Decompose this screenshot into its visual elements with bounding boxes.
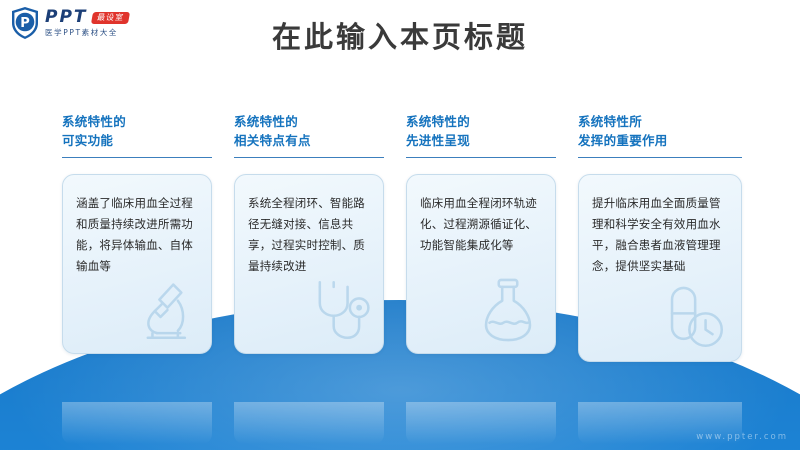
stethoscope-icon: [299, 273, 373, 347]
card-body-text: 提升临床用血全面质量管理和科学安全有效用血水平，融合患者血液管理理念，提供坚实基…: [592, 193, 728, 277]
info-card-2[interactable]: 系统全程闭环、智能路径无缝对接、信息共享，过程实时控制、质量持续改进: [234, 174, 384, 354]
flask-icon: [471, 273, 545, 347]
heading-underline: [62, 157, 212, 158]
card-reflection: [234, 402, 384, 444]
pill-clock-icon: [657, 281, 731, 355]
heading-underline: [406, 157, 556, 158]
card-reflections: [62, 402, 752, 444]
info-card-4[interactable]: 提升临床用血全面质量管理和科学安全有效用血水平，融合患者血液管理理念，提供坚实基…: [578, 174, 742, 362]
column-heading: 系统特性的 先进性呈现: [406, 112, 556, 150]
heading-underline: [234, 157, 384, 158]
card-body-text: 涵盖了临床用血全过程和质量持续改进所需功能，将异体输血、自体输血等: [76, 193, 198, 277]
info-card-1[interactable]: 涵盖了临床用血全过程和质量持续改进所需功能，将异体输血、自体输血等: [62, 174, 212, 354]
info-card-3[interactable]: 临床用血全程闭环轨迹化、过程溯源循证化、功能智能集成化等: [406, 174, 556, 354]
slide-canvas: P PPT 最设室 医学PPT素材大全 在此输入本页标题 系统特性的 可实功能 …: [0, 0, 800, 450]
column-heading: 系统特性的 相关特点有点: [234, 112, 384, 150]
column-heading: 系统特性的 可实功能: [62, 112, 212, 150]
column-3: 系统特性的 先进性呈现 临床用血全程闭环轨迹化、过程溯源循证化、功能智能集成化等: [406, 112, 556, 402]
column-1: 系统特性的 可实功能 涵盖了临床用血全过程和质量持续改进所需功能，将异体输血、自…: [62, 112, 212, 402]
card-reflection: [62, 402, 212, 444]
content-columns: 系统特性的 可实功能 涵盖了临床用血全过程和质量持续改进所需功能，将异体输血、自…: [62, 112, 752, 402]
column-4: 系统特性所 发挥的重要作用 提升临床用血全面质量管理和科学安全有效用血水平，融合…: [578, 112, 742, 402]
page-title: 在此输入本页标题: [0, 14, 800, 56]
column-heading: 系统特性所 发挥的重要作用: [578, 112, 742, 150]
column-2: 系统特性的 相关特点有点 系统全程闭环、智能路径无缝对接、信息共享，过程实时控制…: [234, 112, 384, 402]
card-body-text: 临床用血全程闭环轨迹化、过程溯源循证化、功能智能集成化等: [420, 193, 542, 256]
card-body-text: 系统全程闭环、智能路径无缝对接、信息共享，过程实时控制、质量持续改进: [248, 193, 370, 277]
microscope-icon: [127, 273, 201, 347]
heading-underline: [578, 157, 742, 158]
card-reflection: [406, 402, 556, 444]
site-watermark: www.ppter.com: [696, 432, 788, 442]
